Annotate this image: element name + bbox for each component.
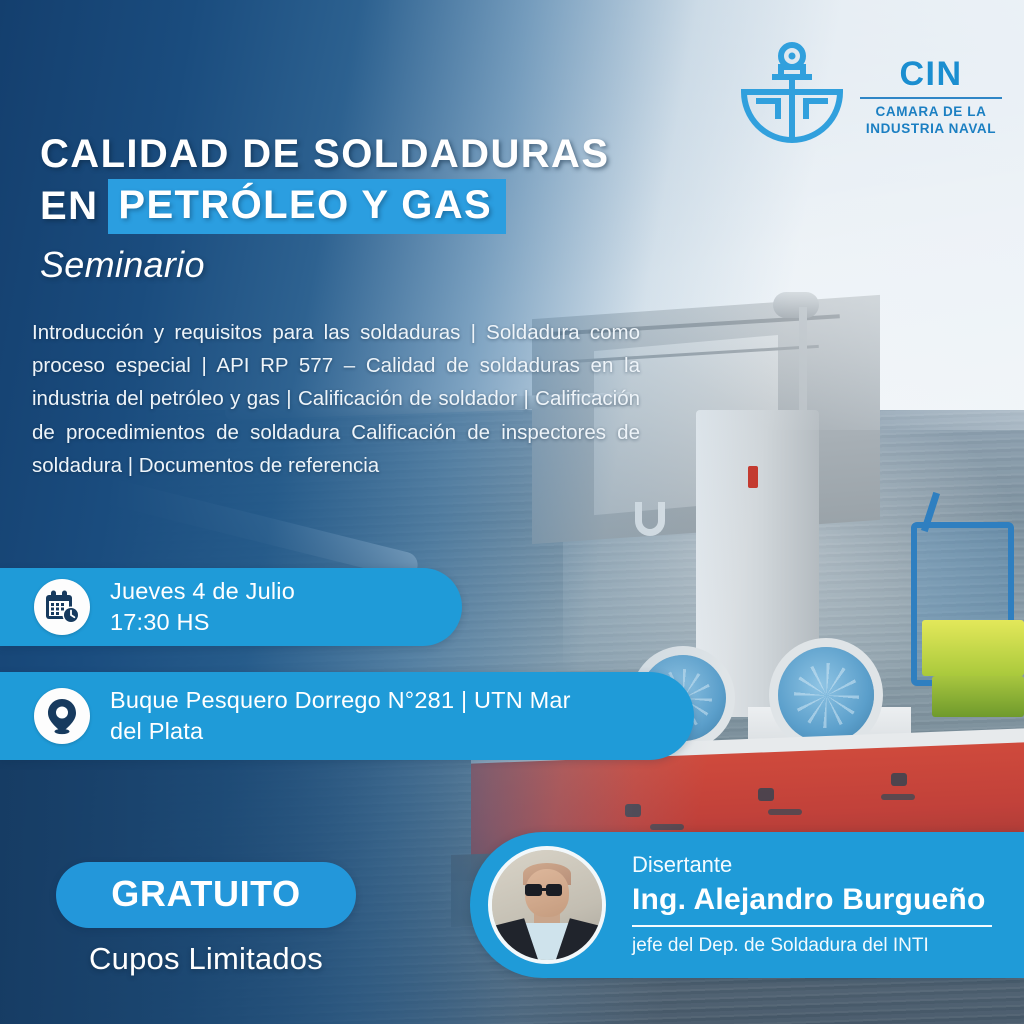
title-block: CALIDAD DE SOLDADURAS EN PETRÓLEO Y GAS … [40,132,680,286]
speaker-divider [632,925,992,927]
date-line-2: 17:30 HS [110,607,295,638]
logo-divider [860,97,1002,99]
avatar-glasses-bridge [542,888,548,891]
speaker-panel: Disertante Ing. Alejandro Burgueño jefe … [470,832,1024,978]
location-text: Buque Pesquero Dorrego N°281 | UTN Mar d… [110,685,571,748]
poster-canvas: CIN CAMARA DE LA INDUSTRIA NAVAL CALIDAD… [0,0,1024,1024]
calendar-clock-icon [34,579,90,635]
speaker-text-block: Disertante Ing. Alejandro Burgueño jefe … [632,852,992,958]
speaker-avatar [488,846,606,964]
title-highlight: PETRÓLEO Y GAS [108,179,506,234]
seminar-description: Introducción y requisitos para las solda… [32,316,640,482]
logo-acronym: CIN [899,57,962,91]
price-block: GRATUITO Cupos Limitados [56,862,356,977]
avatar-glasses-right [546,884,563,896]
free-badge: GRATUITO [56,862,356,928]
logo-name: CAMARA DE LA INDUSTRIA NAVAL [866,104,996,137]
title-line-2: EN PETRÓLEO Y GAS [40,179,680,234]
speaker-role-label: Disertante [632,852,992,878]
limited-seats-note: Cupos Limitados [56,941,356,977]
logo-name-line1: CAMARA DE LA [866,104,996,120]
logo-text-block: CIN CAMARA DE LA INDUSTRIA NAVAL [860,51,1002,137]
location-line-1: Buque Pesquero Dorrego N°281 | UTN Mar [110,685,571,716]
title-line-2-prefix: EN [40,184,108,229]
speaker-organization: jefe del Dep. de Soldadura del INTI [632,935,992,958]
title-subtitle: Seminario [40,244,680,286]
logo-name-line2: INDUSTRIA NAVAL [866,121,996,137]
title-line-1: CALIDAD DE SOLDADURAS [40,132,680,177]
date-line-1: Jueves 4 de Julio [110,576,295,607]
location-banner: Buque Pesquero Dorrego N°281 | UTN Mar d… [0,672,694,760]
cin-logo: CIN CAMARA DE LA INDUSTRIA NAVAL [736,38,1000,150]
date-banner: Jueves 4 de Julio 17:30 HS [0,568,462,646]
anchor-icon [736,40,848,148]
date-text: Jueves 4 de Julio 17:30 HS [110,576,295,639]
map-pin-icon [34,688,90,744]
speaker-name: Ing. Alejandro Burgueño [632,883,992,918]
location-line-2: del Plata [110,716,571,747]
avatar-glasses-left [525,884,542,896]
